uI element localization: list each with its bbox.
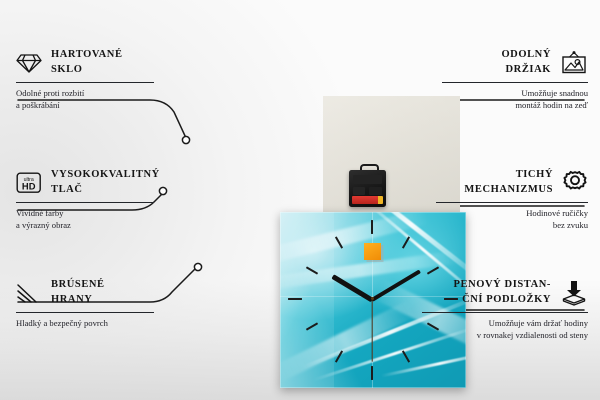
feature-title-line2: HRANY	[51, 293, 105, 308]
infographic-canvas: HARTOVANÉ SKLO Odolné proti rozbití a po…	[0, 0, 600, 400]
ground-edges-icon	[16, 282, 42, 304]
feature-title-line2: TLAČ	[51, 183, 160, 198]
feature-ground-edges: BRÚSENÉ HRANY Hladký a bezpečný povrch	[16, 278, 154, 330]
feature-divider	[16, 82, 154, 83]
feature-title-line2: MECHANIZMUS	[464, 183, 553, 198]
feature-desc-line1: Umožňuje snadnou	[442, 88, 588, 100]
feature-desc-line1: Hodinové ručičky	[436, 208, 588, 220]
feature-desc-line1: Odolné proti rozbití	[16, 88, 154, 100]
clock-center-hub	[371, 297, 374, 300]
feature-desc-line2: bez zvuku	[436, 220, 588, 232]
feature-desc-line2: v rovnakej vzdialenosti od steny	[422, 330, 588, 342]
svg-text:HD: HD	[22, 180, 36, 191]
feature-desc-line2: montáž hodin na zeď	[442, 100, 588, 112]
feature-title-line2: SKLO	[51, 63, 123, 78]
feature-title-line1: ODOLNÝ	[501, 48, 551, 63]
feature-title-line2: DRŽIAK	[501, 63, 551, 78]
picture-hanger-icon	[560, 51, 588, 75]
feature-silent-mechanism: TICHÝ MECHANIZMUS Hodinové ručičky bez z…	[436, 168, 588, 231]
feature-divider	[16, 202, 154, 203]
gear-icon	[562, 170, 588, 196]
feature-desc-line2: a výrazný obraz	[16, 220, 154, 232]
feature-durable-holder: ODOLNÝ DRŽIAK Umožňuje snadnou montáž ho…	[442, 48, 588, 111]
feature-title-line1: TICHÝ	[464, 168, 553, 183]
feature-title-line1: PENOVÝ DISTAN-	[454, 278, 551, 293]
product-photo	[140, 104, 334, 288]
feature-high-quality-print: ultra HD VYSOKOKVALITNÝ TLAČ Vividné far…	[16, 168, 154, 231]
feature-desc-line2: a poškrábání	[16, 100, 154, 112]
feature-title-line1: HARTOVANÉ	[51, 48, 123, 63]
battery-terminal	[378, 196, 383, 204]
diamond-icon	[16, 52, 42, 74]
feature-title-line1: BRÚSENÉ	[51, 278, 105, 293]
feature-divider	[436, 202, 588, 203]
feature-divider	[442, 82, 588, 83]
clock-hour-hand	[331, 275, 373, 303]
feature-desc-line1: Vividné farby	[16, 208, 154, 220]
feature-divider	[422, 312, 588, 313]
feature-title-line1: VYSOKOKVALITNÝ	[51, 168, 160, 183]
feature-desc-line1: Hladký a bezpečný povrch	[16, 318, 154, 330]
ultra-hd-icon: ultra HD	[16, 171, 42, 195]
feature-desc-line1: Umožňuje vám držať hodiny	[422, 318, 588, 330]
press-down-pad-icon	[560, 280, 588, 306]
feature-title-line2: ČNÍ PODLOŽKY	[454, 293, 551, 308]
feature-tempered-glass: HARTOVANÉ SKLO Odolné proti rozbití a po…	[16, 48, 154, 111]
feature-foam-spacers: PENOVÝ DISTAN- ČNÍ PODLOŽKY Umožňuje vám…	[422, 278, 588, 341]
feature-divider	[16, 312, 154, 313]
clock-second-hand	[371, 300, 372, 362]
foam-spacer-pad	[364, 243, 381, 260]
